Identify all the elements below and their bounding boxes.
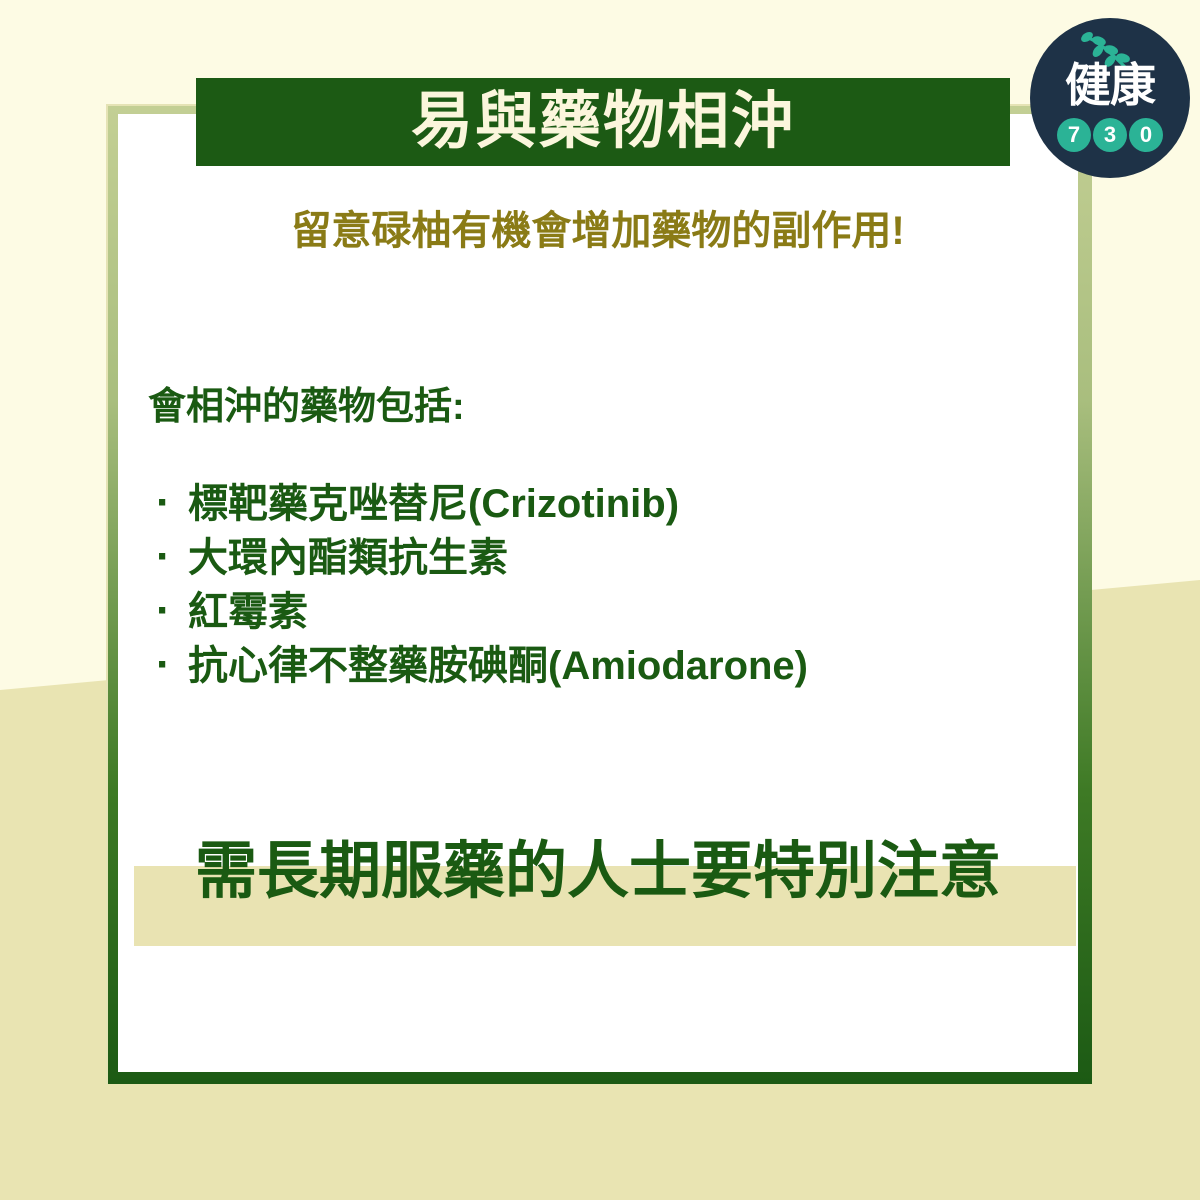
list-lead-in-label: 會相沖的藥物包括: xyxy=(148,385,1068,431)
list-item: 標靶藥克唑替尼(Crizotinib) xyxy=(148,477,1068,531)
logo-digit: 3 xyxy=(1093,118,1127,152)
logo-digits: 7 3 0 xyxy=(1030,118,1190,152)
list-item: 紅霉素 xyxy=(148,585,1068,639)
drug-interaction-list: 標靶藥克唑替尼(Crizotinib) 大環內酯類抗生素 紅霉素 抗心律不整藥胺… xyxy=(148,477,1068,693)
list-item: 抗心律不整藥胺碘酮(Amiodarone) xyxy=(148,639,1068,693)
page-title: 易與藥物相沖 xyxy=(411,91,795,153)
subtitle-text: 留意碌柚有機會增加藥物的副作用! xyxy=(118,198,1078,256)
logo-digit: 0 xyxy=(1129,118,1163,152)
highlight-callout: 需長期服藥的人士要特別注意 xyxy=(118,838,1078,958)
logo-wordmark: 健康 xyxy=(1030,62,1190,108)
highlight-text: 需長期服藥的人士要特別注意 xyxy=(118,838,1078,906)
list-item: 大環內酯類抗生素 xyxy=(148,531,1068,585)
logo-digit: 7 xyxy=(1057,118,1091,152)
header-bar: 易與藥物相沖 xyxy=(196,78,1010,166)
body-content: 會相沖的藥物包括: 標靶藥克唑替尼(Crizotinib) 大環內酯類抗生素 紅… xyxy=(148,385,1068,693)
brand-logo: 健康 7 3 0 xyxy=(1030,18,1190,178)
